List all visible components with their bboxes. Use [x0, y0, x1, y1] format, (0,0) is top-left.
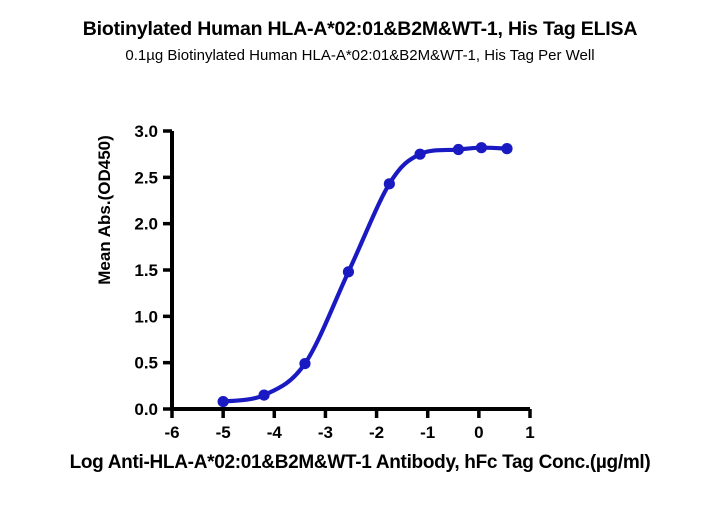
y-axis-ticks: 0.00.51.01.52.02.53.0: [134, 122, 172, 419]
elisa-chart-figure: Biotinylated Human HLA-A*02:01&B2M&WT-1,…: [0, 0, 720, 502]
data-point: [258, 390, 269, 401]
data-point: [218, 396, 229, 407]
x-tick-label: 1: [525, 423, 534, 442]
x-tick-label: -1: [420, 423, 435, 442]
x-tick-label: -5: [216, 423, 231, 442]
x-axis-label: Log Anti-HLA-A*02:01&B2M&WT-1 Antibody, …: [0, 452, 720, 474]
data-point: [343, 266, 354, 277]
y-tick-label: 1.0: [134, 307, 158, 326]
data-point: [414, 149, 425, 160]
x-tick-label: 0: [474, 423, 483, 442]
y-tick-label: 0.0: [134, 400, 158, 419]
x-axis-ticks: -6-5-4-3-2-101: [164, 409, 534, 442]
x-tick-label: -4: [267, 423, 283, 442]
x-tick-label: -6: [164, 423, 179, 442]
y-tick-label: 2.0: [134, 215, 158, 234]
x-tick-label: -3: [318, 423, 333, 442]
y-tick-label: 2.5: [134, 168, 158, 187]
data-point: [299, 358, 310, 369]
data-point: [476, 142, 487, 153]
y-tick-label: 0.5: [134, 354, 158, 373]
x-tick-label: -2: [369, 423, 384, 442]
data-curve: [223, 148, 507, 402]
plot-area: 0.00.51.01.52.02.53.0 -6-5-4-3-2-101 Mea…: [0, 0, 720, 502]
data-point: [453, 144, 464, 155]
y-axis-label: Mean Abs.(OD450): [95, 100, 115, 320]
data-point: [384, 178, 395, 189]
data-point: [501, 143, 512, 154]
data-point-markers: [218, 142, 513, 407]
y-tick-label: 3.0: [134, 122, 158, 141]
y-tick-label: 1.5: [134, 261, 158, 280]
